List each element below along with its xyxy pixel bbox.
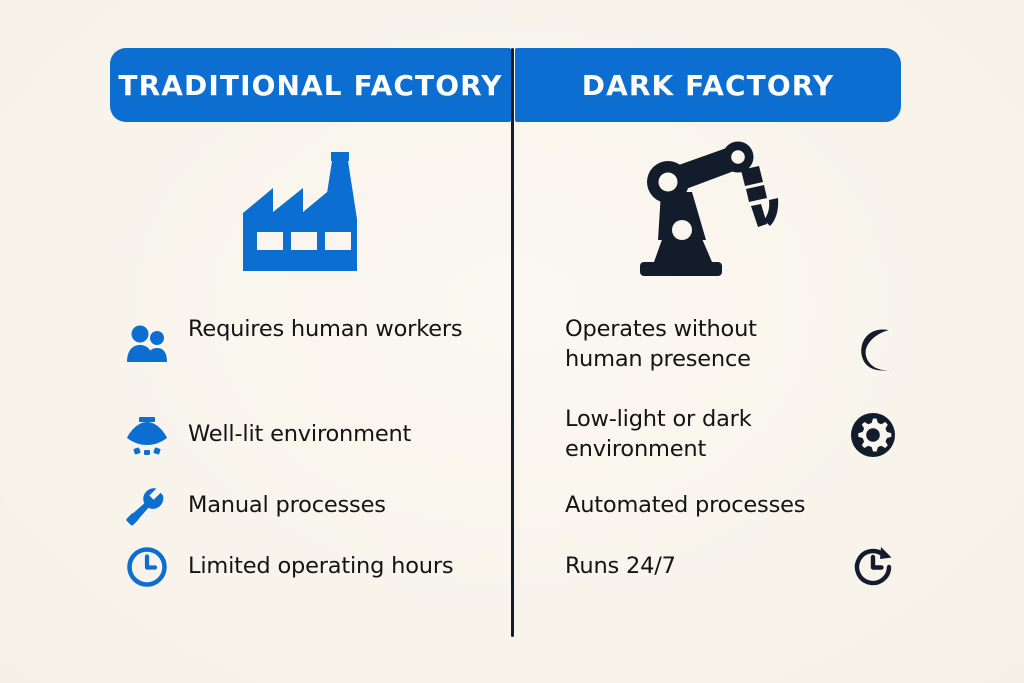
column-traditional-factory: Requires human workers Well-lit environm… bbox=[110, 130, 511, 650]
column-header-title: TRADITIONAL FACTORY bbox=[118, 69, 502, 102]
crescent-moon-icon bbox=[845, 321, 901, 377]
list-item: Requires human workers bbox=[124, 311, 511, 395]
column-header-title: DARK FACTORY bbox=[582, 69, 834, 102]
feature-list-traditional: Requires human workers Well-lit environm… bbox=[110, 311, 511, 597]
list-item: Well-lit environment bbox=[124, 395, 511, 475]
header-banner-dark-factory: DARK FACTORY bbox=[515, 48, 901, 122]
column-dark-factory: Operates without human presence Low-ligh… bbox=[515, 130, 901, 650]
list-item: Limited operating hours bbox=[124, 537, 511, 597]
feature-label: Operates without human presence bbox=[565, 311, 831, 374]
feature-label: Low-light or dark environment bbox=[565, 405, 831, 464]
factory-icon bbox=[235, 138, 387, 288]
feature-label: Automated processes bbox=[565, 491, 831, 521]
robot-arm-icon bbox=[628, 138, 788, 288]
ceiling-lamp-icon bbox=[124, 412, 170, 458]
feature-label: Well-lit environment bbox=[188, 420, 411, 450]
feature-label: Limited operating hours bbox=[188, 552, 453, 582]
comparison-board: TRADITIONAL FACTORY DARK FACTORY bbox=[0, 0, 1024, 683]
gear-icon bbox=[845, 407, 901, 463]
list-item: Operates without human presence bbox=[565, 311, 901, 395]
no-icon-placeholder bbox=[845, 478, 901, 534]
column-divider bbox=[511, 48, 514, 637]
clock-rotate-icon bbox=[845, 539, 901, 595]
feature-label: Manual processes bbox=[188, 491, 386, 521]
list-item: Manual processes bbox=[124, 475, 511, 537]
header-banner-traditional-factory: TRADITIONAL FACTORY bbox=[110, 48, 511, 122]
hero-illustration-dark bbox=[515, 130, 901, 295]
list-item: Low-light or dark environment bbox=[565, 395, 901, 475]
list-item: Runs 24/7 bbox=[565, 537, 901, 597]
wrench-icon bbox=[124, 483, 170, 529]
feature-list-dark: Operates without human presence Low-ligh… bbox=[515, 311, 901, 597]
list-item: Automated processes bbox=[565, 475, 901, 537]
people-icon bbox=[124, 321, 170, 367]
feature-label: Requires human workers bbox=[188, 311, 462, 345]
clock-icon bbox=[124, 544, 170, 590]
feature-label: Runs 24/7 bbox=[565, 552, 831, 582]
hero-illustration-traditional bbox=[110, 130, 511, 295]
